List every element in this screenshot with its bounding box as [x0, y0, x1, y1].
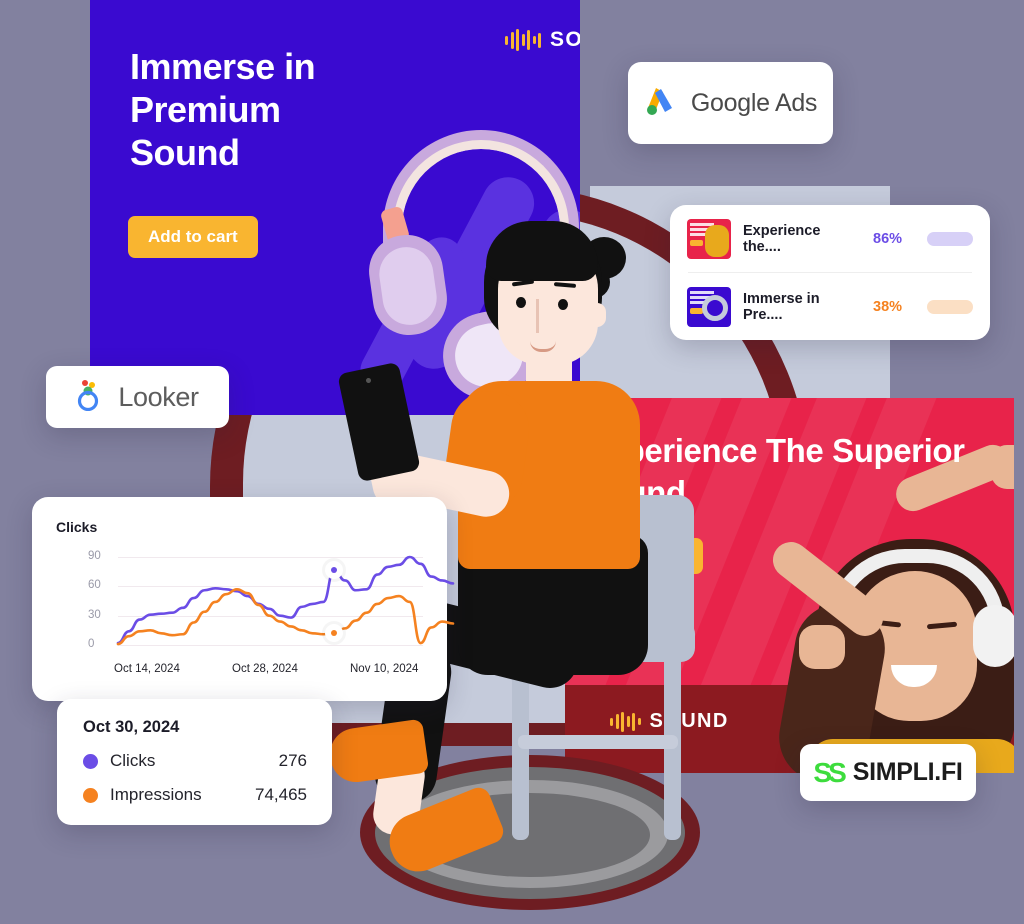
ad-title: Immerse in Pre....	[743, 291, 861, 323]
sound-brand-logo: SOUND	[505, 28, 580, 52]
y-tick-label: 0	[88, 638, 94, 650]
tooltip-metric-value: 276	[279, 751, 307, 771]
tooltip-metric-value: 74,465	[255, 785, 307, 805]
marker-dot	[331, 630, 337, 636]
series-clicks	[118, 557, 453, 643]
scene: SOUND Immerse in Premium Sound Add to ca…	[0, 0, 1024, 924]
tooltip-row-clicks: Clicks 276	[83, 751, 307, 771]
blue-add-to-cart-button[interactable]: Add to cart	[128, 216, 258, 258]
waveform-icon	[505, 29, 541, 51]
gridline	[118, 645, 423, 646]
progress-bar-track	[927, 232, 973, 246]
x-tick-label: Oct 14, 2024	[114, 663, 180, 675]
ad-title: Experience the....	[743, 223, 861, 255]
clicks-legend-dot	[83, 754, 98, 769]
ad-thumbnail	[687, 219, 731, 259]
google-ads-label: Google Ads	[691, 89, 817, 118]
chart-lines	[118, 557, 453, 645]
looker-icon	[76, 379, 106, 416]
simplifi-icon: SS	[813, 757, 842, 789]
sound-logo-text: SOUND	[550, 28, 580, 52]
progress-row[interactable]: Immerse in Pre.... 38%	[670, 273, 990, 340]
ad-percent: 38%	[873, 299, 915, 315]
tooltip-row-impressions: Impressions 74,465	[83, 785, 307, 805]
ad-performance-card: Experience the.... 86% Immerse in Pre...…	[670, 205, 990, 340]
impressions-legend-dot	[83, 788, 98, 803]
x-tick-label: Oct 28, 2024	[232, 663, 298, 675]
chart-point-marker[interactable]	[325, 561, 343, 579]
y-tick-label: 30	[88, 609, 101, 621]
tooltip-metric-name: Clicks	[110, 751, 279, 771]
looker-label: Looker	[118, 382, 198, 413]
progress-row[interactable]: Experience the.... 86%	[670, 205, 990, 272]
clicks-chart-card: Clicks 0306090 Oct 14, 2024Oct 28, 2024N…	[32, 497, 447, 701]
simplifi-label: SIMPLI.FI	[853, 758, 963, 787]
marker-dot	[331, 567, 337, 573]
ad-percent: 86%	[873, 231, 915, 247]
ad-thumbnail	[687, 287, 731, 327]
y-tick-label: 90	[88, 550, 101, 562]
simplifi-badge[interactable]: SS SIMPLI.FI	[800, 744, 976, 801]
looker-badge[interactable]: Looker	[46, 366, 229, 428]
chart-title: Clicks	[56, 519, 97, 535]
chart-tooltip-card: Oct 30, 2024 Clicks 276 Impressions 74,4…	[57, 699, 332, 825]
blue-banner-title: Immerse in Premium Sound	[130, 45, 390, 174]
google-ads-icon	[644, 86, 678, 121]
x-tick-label: Nov 10, 2024	[350, 663, 418, 675]
tooltip-date: Oct 30, 2024	[83, 718, 179, 737]
chart-plot-area: 0306090	[88, 557, 423, 645]
tooltip-metric-name: Impressions	[110, 785, 255, 805]
y-tick-label: 60	[88, 579, 101, 591]
google-ads-badge[interactable]: Google Ads	[628, 62, 833, 144]
progress-bar-track	[927, 300, 973, 314]
